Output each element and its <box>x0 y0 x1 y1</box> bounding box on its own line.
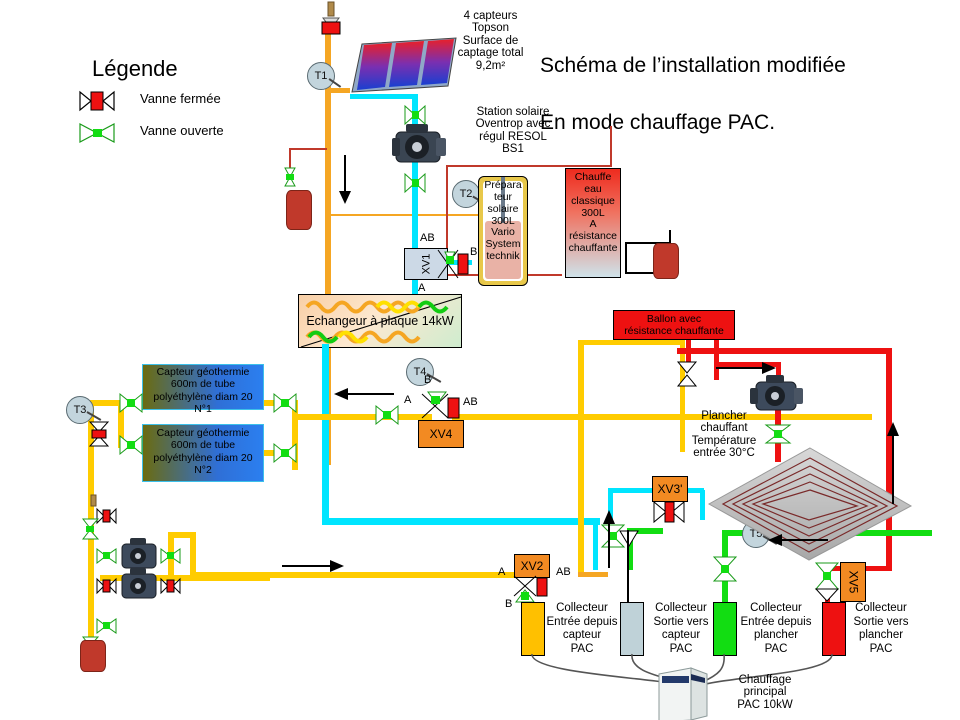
valve-geo1-out-icon[interactable] <box>272 392 298 414</box>
valve-geo2-out-icon[interactable] <box>272 442 298 464</box>
valve-closed-icon <box>78 88 128 116</box>
valve-xv4-port-a: A <box>404 394 411 406</box>
valve-xv4-icon[interactable] <box>418 388 456 422</box>
pipe-vessel-drop <box>669 230 671 244</box>
sensor-T2: T2 <box>452 180 480 208</box>
exchanger-label: Echangeur à plaque 14kW <box>306 314 453 328</box>
valve-solar-upper-icon[interactable] <box>403 104 427 126</box>
expansion-vessel-dhw <box>653 243 679 279</box>
valve-xv1-port-a: A <box>418 282 425 294</box>
air-vent-icon <box>318 2 344 34</box>
collector-outlet-plancher <box>822 602 846 656</box>
geothermal-pump-2 <box>112 568 166 606</box>
valve-xv5-body[interactable]: XV5 <box>840 562 866 602</box>
geo2-line4: N°2 <box>143 464 263 476</box>
flow-arrow-geo-left <box>332 386 394 402</box>
legend-heading: Légende <box>92 56 178 82</box>
pipe-solar-panel-link <box>325 88 350 93</box>
expansion-vessel-geothermal <box>80 640 106 672</box>
geo2-line3: polyéthylène diam 20 <box>143 452 263 464</box>
geothermal-collector-2: Capteur géothermie 600m de tube polyéthy… <box>142 424 264 482</box>
valve-xv1-label: XV1 <box>420 254 432 275</box>
valve-xv2-port-ab: AB <box>556 566 571 578</box>
pipe-xv2-ab-link <box>578 572 608 577</box>
valve-xv1-icon[interactable] <box>436 248 466 280</box>
collector-outlet-capteur <box>620 602 644 656</box>
pipe-heater-left-top <box>446 165 612 167</box>
flow-arrow-cold-up <box>601 508 617 570</box>
pipe-xv4-right-run <box>452 414 872 420</box>
heat-pump-unit <box>655 666 713 720</box>
valve-geo-t3-closed-icon[interactable] <box>88 420 112 448</box>
collector-outlet-capteur-label: Collecteur Sortie vers capteur PAC <box>645 602 717 656</box>
collector-inlet-plancher-label: Collecteur Entrée depuis plancher PAC <box>738 602 814 656</box>
valve-xv4-port-b: B <box>424 374 431 386</box>
pipe-geo-to-xv4 <box>292 414 432 420</box>
geo2-line1: Capteur géothermie <box>143 427 263 439</box>
heat-pump-annotation: Chauffage principal PAC 10kW <box>720 674 810 711</box>
geo1-line1: Capteur géothermie <box>143 366 263 378</box>
flow-arrow-floor-return <box>766 532 830 548</box>
pipe-heater-top <box>610 126 612 166</box>
page-title: Schéma de l’installation modifiée En mod… <box>540 24 846 166</box>
solar-tank-label: Prépara teur solaire 300L Vario System t… <box>478 180 528 263</box>
valve-buffer-icon[interactable] <box>676 360 698 388</box>
title-line-1: Schéma de l’installation modifiée <box>540 52 846 80</box>
solar-station-annotation: Station solaire Oventrop avec régul RESO… <box>458 106 568 156</box>
expansion-vessel-solar <box>286 190 312 230</box>
flow-arrow-buffer-right <box>716 360 778 376</box>
valve-pump2-out-icon[interactable] <box>160 578 182 594</box>
flow-arrow-hot-up <box>885 420 901 506</box>
geo1-line3: polyéthylène diam 20 <box>143 391 263 403</box>
valve-xv2-port-b: B <box>505 598 512 610</box>
legend-label-0: Vanne fermée <box>140 91 221 106</box>
valve-xv4-port-ab: AB <box>463 396 478 408</box>
valve-xv1-port-b: B <box>470 246 477 258</box>
pipe-yellow-riser <box>578 340 584 576</box>
pipe-heater-vessel-v <box>625 242 627 274</box>
pipe-exchanger-cold-down <box>322 344 329 524</box>
legend-label-1: Vanne ouverte <box>140 123 224 138</box>
pipe-yellow-top <box>578 340 683 345</box>
collector-outlet-plancher-label: Collecteur Sortie vers plancher PAC <box>845 602 917 656</box>
valve-xv1-port-ab: AB <box>420 232 435 244</box>
valve-xv2-label: XV2 <box>521 559 544 573</box>
pipe-yellow-bottom-long <box>196 572 526 578</box>
buffer-tank-label: Ballon avec résistance chauffante <box>624 313 724 337</box>
solar-collector-annotation: 4 capteurs Topson Surface de captage tot… <box>438 10 543 72</box>
valve-geo-upper-open-icon[interactable] <box>82 518 100 540</box>
valve-geo1-in-icon[interactable] <box>118 392 144 414</box>
valve-pump1-in-icon[interactable] <box>96 548 118 564</box>
geo1-line4: N°1 <box>143 403 263 415</box>
valve-small-top-icon[interactable] <box>618 530 640 548</box>
floor-heating-annotation: Plancher chauffant Température entrée 30… <box>676 410 772 460</box>
valve-xv3-label: XV3' <box>658 482 683 496</box>
valve-geo-lower-icon[interactable] <box>96 618 118 634</box>
valve-open-icon <box>78 120 128 148</box>
schematic-canvas: Schéma de l’installation modifiée En mod… <box>0 0 960 720</box>
valve-pump1-out-icon[interactable] <box>160 548 182 564</box>
pipe-expansion-top <box>289 148 327 150</box>
collector-inlet-capteur-label: Collecteur Entrée depuis capteur PAC <box>546 602 618 656</box>
geo1-line2: 600m de tube <box>143 378 263 390</box>
title-line-2: En mode chauffage PAC. <box>540 109 846 137</box>
line-collector-marker <box>627 530 629 602</box>
pipe-hot-top-run <box>677 348 892 354</box>
valve-xv5-icon[interactable] <box>814 562 840 602</box>
valve-xv4-label: XV4 <box>430 427 453 441</box>
pipe-buffer-drop-left <box>686 338 691 362</box>
valve-expansion-icon[interactable] <box>283 166 307 188</box>
valve-xv3-body[interactable]: XV3' <box>652 476 688 502</box>
buffer-tank: Ballon avec résistance chauffante <box>613 310 735 340</box>
valve-xv2-port-a: A <box>498 566 505 578</box>
pipe-cold-to-xv3 <box>322 518 600 525</box>
plate-heat-exchanger: Echangeur à plaque 14kW <box>298 294 462 348</box>
air-vent-left-icon <box>87 495 101 513</box>
valve-pump2-in-icon[interactable] <box>96 578 118 594</box>
collector-inlet-plancher <box>713 602 737 656</box>
geothermal-collector-1: Capteur géothermie 600m de tube polyéthy… <box>142 364 264 410</box>
valve-floor-return-icon[interactable] <box>712 556 738 582</box>
valve-geo-main-icon[interactable] <box>374 404 400 426</box>
pipe-solar-branch-right <box>329 214 489 216</box>
flow-arrow-solar-down <box>336 155 354 205</box>
valve-xv5-label: XV5 <box>846 571 860 594</box>
valve-geo2-in-icon[interactable] <box>118 434 144 456</box>
classic-water-heater-label: Chauffe eau classique 300L A résistance … <box>565 172 621 255</box>
flow-arrow-geo-right <box>282 558 346 574</box>
valve-xv2-icon[interactable] <box>510 574 552 604</box>
valve-xv3-icon[interactable] <box>652 500 686 524</box>
pipe-cold-riser <box>593 518 598 570</box>
valve-solar-lower-icon[interactable] <box>403 172 427 194</box>
sensor-T1: T1 <box>307 62 335 90</box>
geo2-line2: 600m de tube <box>143 439 263 451</box>
collector-inlet-capteur <box>521 602 545 656</box>
valve-xv4-body[interactable]: XV4 <box>418 420 464 448</box>
